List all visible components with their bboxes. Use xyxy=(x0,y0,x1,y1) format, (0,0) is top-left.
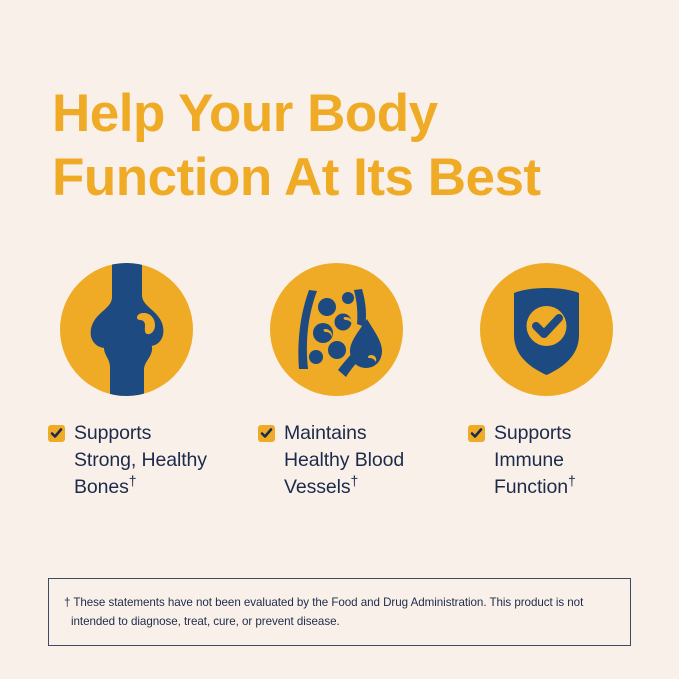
benefit-text-vessels: Maintains Healthy Blood Vessels xyxy=(284,422,404,498)
disclaimer-text: † These statements have not been evaluat… xyxy=(64,593,614,631)
icon-circle-immune xyxy=(480,263,613,396)
icon-circle-bones xyxy=(60,263,193,396)
benefit-text-immune: Supports Immune Function xyxy=(494,422,571,498)
icon-circle-vessels xyxy=(270,263,403,396)
benefit-label-immune: Supports Immune Function† xyxy=(494,420,576,501)
blood-vessel-icon xyxy=(270,263,403,396)
dagger-mark: † xyxy=(129,473,137,489)
benefit-list: Supports Strong, Healthy Bones† Maintain… xyxy=(48,420,648,530)
checkmark-icon xyxy=(260,427,273,440)
checkmark-icon xyxy=(50,427,63,440)
dagger-mark: † xyxy=(351,473,359,489)
disclaimer-box: † These statements have not been evaluat… xyxy=(48,578,631,646)
checkbox-vessels[interactable] xyxy=(258,425,275,442)
promo-panel: Help Your Body Function At Its Best xyxy=(0,0,679,679)
checkmark-icon xyxy=(470,427,483,440)
benefit-icon-cell-bones xyxy=(60,263,205,408)
page-title: Help Your Body Function At Its Best xyxy=(52,82,652,210)
benefit-text-bones: Supports Strong, Healthy Bones xyxy=(74,422,207,498)
shield-check-icon xyxy=(480,263,613,396)
benefit-label-bones: Supports Strong, Healthy Bones† xyxy=(74,420,207,501)
list-item: Supports Immune Function† xyxy=(468,420,673,501)
checkbox-immune[interactable] xyxy=(468,425,485,442)
benefit-icon-cell-vessels xyxy=(270,263,415,408)
benefit-icon-cell-immune xyxy=(480,263,625,408)
benefit-icon-row xyxy=(48,263,638,408)
dagger-mark: † xyxy=(568,473,576,489)
benefit-label-vessels: Maintains Healthy Blood Vessels† xyxy=(284,420,404,501)
list-item: Maintains Healthy Blood Vessels† xyxy=(258,420,463,501)
checkbox-bones[interactable] xyxy=(48,425,65,442)
knee-joint-bone-icon xyxy=(60,263,193,396)
list-item: Supports Strong, Healthy Bones† xyxy=(48,420,253,501)
